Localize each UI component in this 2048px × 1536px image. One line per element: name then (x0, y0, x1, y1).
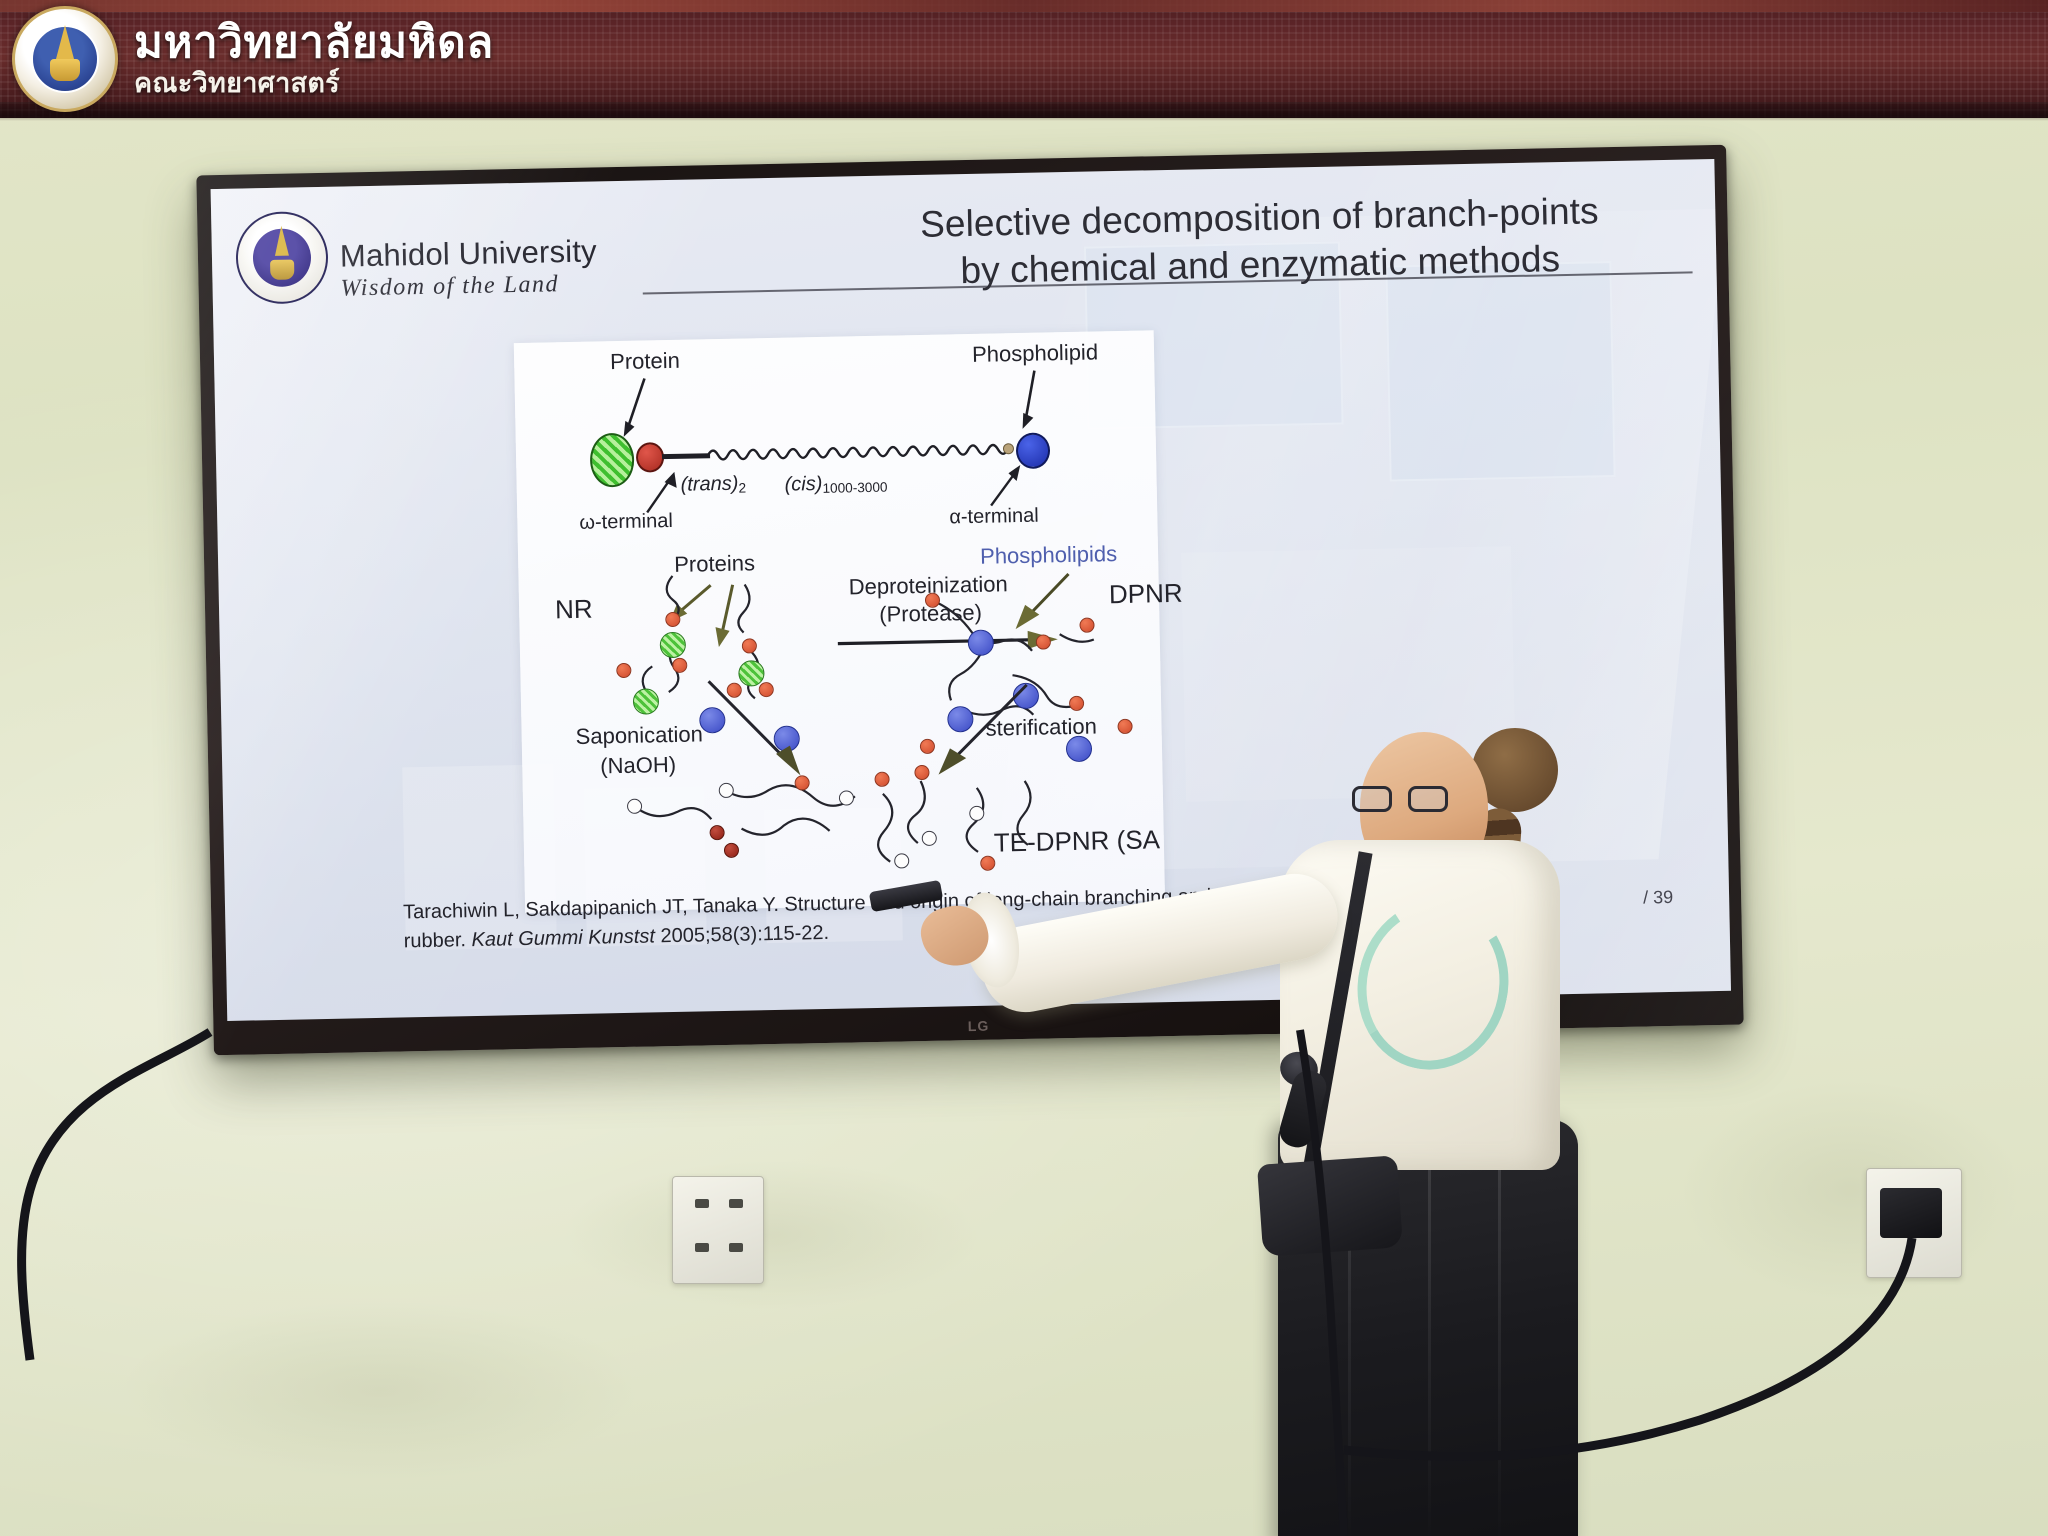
protein-arrow-icon (614, 376, 675, 439)
label-phospholipids: Phospholipids (980, 541, 1117, 570)
organization-name-th: มหาวิทยาลัยมหิดล (134, 21, 494, 66)
citation-prefix: rubber. (404, 929, 472, 952)
brand-lockup: มหาวิทยาลัยมหิดล คณะวิทยาศาสตร์ (12, 6, 494, 112)
skirt-fold (1498, 1120, 1501, 1536)
label-cis-text: (cis) (784, 473, 822, 496)
faculty-name-th: คณะวิทยาศาสตร์ (134, 70, 494, 98)
phospholipid-particle-icon (1016, 432, 1051, 469)
mahidol-seal-icon (235, 211, 329, 305)
diagram-panel: Protein ω-terminal (trans)2 (514, 330, 1165, 913)
label-trans-sub: 2 (738, 480, 746, 495)
label-naoh: (NaOH) (600, 752, 676, 780)
wall-socket-left (672, 1176, 764, 1284)
cis-polyisoprene-chain (708, 433, 1009, 469)
power-plug (1880, 1188, 1942, 1238)
tv-brand-logo: LG (968, 1018, 990, 1034)
citation-suffix: 2005;58(3):115-22. (655, 922, 830, 947)
seal-stupa-icon (274, 226, 289, 256)
presenter-glasses-icon (1352, 786, 1448, 812)
slide-brand-lockup: Mahidol University Wisdom of the Land (235, 205, 598, 304)
label-protein: Protein (610, 348, 680, 375)
label-phospholipid: Phospholipid (972, 339, 1098, 368)
label-cis-sub: 1000-3000 (822, 480, 887, 496)
label-alpha-terminal: α-terminal (949, 505, 1039, 530)
screenshot-root: มหาวิทยาลัยมหิดล คณะวิทยาศาสตร์ (0, 0, 2048, 1536)
skirt-fold (1428, 1120, 1431, 1536)
socket-hole (729, 1199, 743, 1208)
socket-hole (695, 1199, 709, 1208)
wall-smudge (120, 1300, 640, 1480)
presenter (1240, 600, 1760, 1536)
label-trans-unit: (trans)2 (680, 472, 746, 496)
label-trans-text: (trans) (680, 473, 738, 496)
omega-terminal-particle-icon (636, 442, 665, 473)
wall-smudge (560, 1160, 980, 1310)
overlay-banner: มหาวิทยาลัยมหิดล คณะวิทยาศาสตร์ (0, 0, 2048, 118)
label-omega-terminal: ω-terminal (579, 510, 673, 535)
seal-stupa-icon (56, 25, 74, 59)
brand-text-block: มหาวิทยาลัยมหิดล คณะวิทยาศาสตร์ (134, 21, 494, 97)
slide-title: Selective decomposition of branch-points… (839, 186, 1681, 298)
seal-stupa-base-icon (270, 259, 294, 279)
socket-hole (695, 1243, 709, 1252)
label-cis-unit: (cis)1000-3000 (784, 472, 887, 497)
phospholipid-arrow-icon (1010, 368, 1063, 431)
seal-stupa-base-icon (50, 59, 80, 81)
citation-journal: Kaut Gummi Kunstst (471, 925, 655, 951)
mahidol-university-seal-icon (12, 6, 118, 112)
label-transesterification: sterification (985, 713, 1097, 741)
nr-terminal-node (616, 663, 631, 678)
alpha-terminal-particle-icon (1003, 443, 1014, 454)
socket-hole (729, 1243, 743, 1252)
slide-brand-text: Mahidol University Wisdom of the Land (340, 234, 598, 302)
presenter-bag (1257, 1155, 1403, 1257)
slide-university-name: Mahidol University (340, 234, 597, 273)
glasses-right-lens (1408, 786, 1448, 812)
label-te-dpnr: TE-DPNR (SA (994, 824, 1161, 858)
label-saponication: Saponication (575, 721, 703, 750)
protein-particle-icon (590, 433, 635, 488)
slide-motto: Wisdom of the Land (340, 270, 597, 302)
label-nr: NR (555, 594, 593, 626)
trans-unit-bond (662, 453, 710, 459)
glasses-left-lens (1352, 786, 1392, 812)
